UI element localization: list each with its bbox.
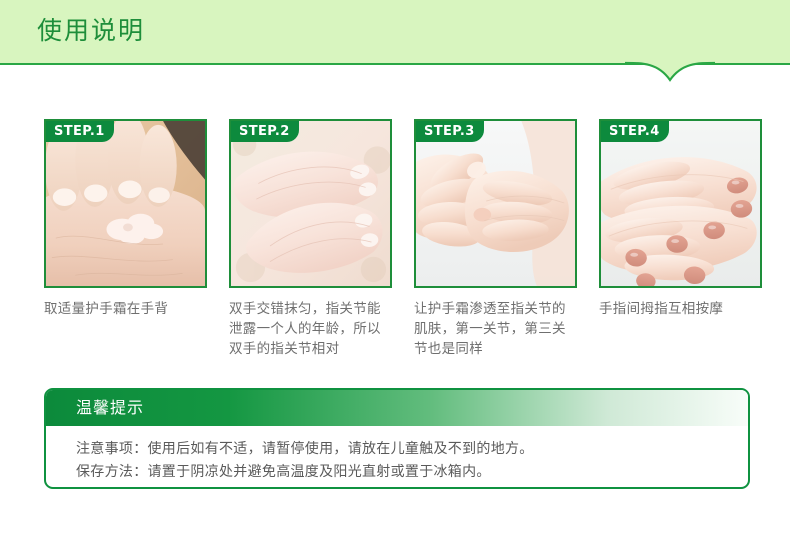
step-1-photo-frame: STEP.1 [44,119,207,288]
tips-body: 注意事项：使用后如有不适，请暂停使用，请放在儿童触及不到的地方。 保存方法：请置… [46,426,748,484]
page-title: 使用说明 [37,14,145,48]
step-card-1[interactable]: STEP.1 取适量护手霜在手背 [44,119,207,359]
tips-header-bar: 温馨提示 [46,390,748,426]
step-card-2[interactable]: STEP.2 双手交错抹匀，指关节能泄露一个人的年龄，所以双手的指关节相对 [229,119,392,359]
tips-line-precautions: 注意事项：使用后如有不适，请暂停使用，请放在儿童触及不到的地方。 [76,438,748,461]
step-4-badge: STEP.4 [601,121,669,142]
step-2-photo-frame: STEP.2 [229,119,392,288]
hand-applying-cream-photo [46,121,205,286]
step-4-photo-frame: STEP.4 [599,119,762,288]
step-1-badge: STEP.1 [46,121,114,142]
step-3-photo-frame: STEP.3 [414,119,577,288]
tips-title: 温馨提示 [76,397,144,419]
step-3-badge: STEP.3 [416,121,484,142]
step-2-caption: 双手交错抹匀，指关节能泄露一个人的年龄，所以双手的指关节相对 [229,299,392,359]
tips-line-storage: 保存方法：请置于阴凉处并避免高温度及阳光直射或置于冰箱内。 [76,461,748,484]
hands-crossed-rubbing-photo [231,121,390,286]
step-4-caption: 手指间拇指互相按摩 [599,299,762,319]
step-3-caption: 让护手霜渗透至指关节的肌肤，第一关节，第三关节也是同样 [414,299,577,359]
fingers-massaging-knuckles-photo [416,121,575,286]
hands-stacked-manicure-photo [601,121,760,286]
header-chevron-notch-icon [625,60,715,82]
step-1-caption: 取适量护手霜在手背 [44,299,207,319]
step-2-badge: STEP.2 [231,121,299,142]
steps-row: STEP.1 取适量护手霜在手背 [44,119,750,359]
step-card-3[interactable]: STEP.3 让护手霜渗透至指关节的肌肤，第一关节，第三关节也是同样 [414,119,577,359]
step-card-4[interactable]: STEP.4 手指间拇指互相按摩 [599,119,762,359]
page-header-band: 使用说明 [0,0,790,63]
tips-panel: 温馨提示 注意事项：使用后如有不适，请暂停使用，请放在儿童触及不到的地方。 保存… [44,388,750,489]
